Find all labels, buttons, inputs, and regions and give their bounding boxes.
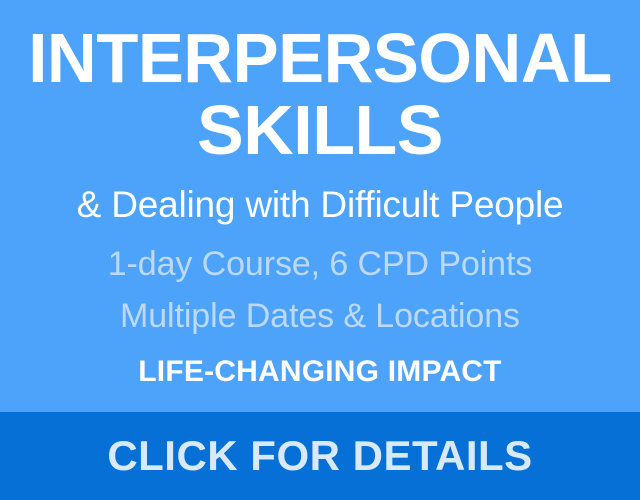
course-detail-dates-locations: Multiple Dates & Locations [0, 290, 640, 342]
headline-line-1: INTERPERSONAL [5, 22, 635, 94]
click-for-details-button[interactable]: CLICK FOR DETAILS [0, 412, 640, 500]
headline-block: INTERPERSONAL SKILLS [0, 22, 640, 166]
ad-subtitle: & Dealing with Difficult People [0, 182, 640, 228]
cta-label: CLICK FOR DETAILS [107, 433, 532, 479]
course-details-block: 1-day Course, 6 CPD Points Multiple Date… [0, 238, 640, 342]
headline-line-2: SKILLS [0, 94, 640, 166]
course-detail-duration-cpd: 1-day Course, 6 CPD Points [0, 238, 640, 290]
advertisement-banner[interactable]: INTERPERSONAL SKILLS & Dealing with Diff… [0, 0, 640, 500]
ad-content-area: INTERPERSONAL SKILLS & Dealing with Diff… [0, 0, 640, 412]
ad-tagline: LIFE-CHANGING IMPACT [0, 352, 640, 392]
